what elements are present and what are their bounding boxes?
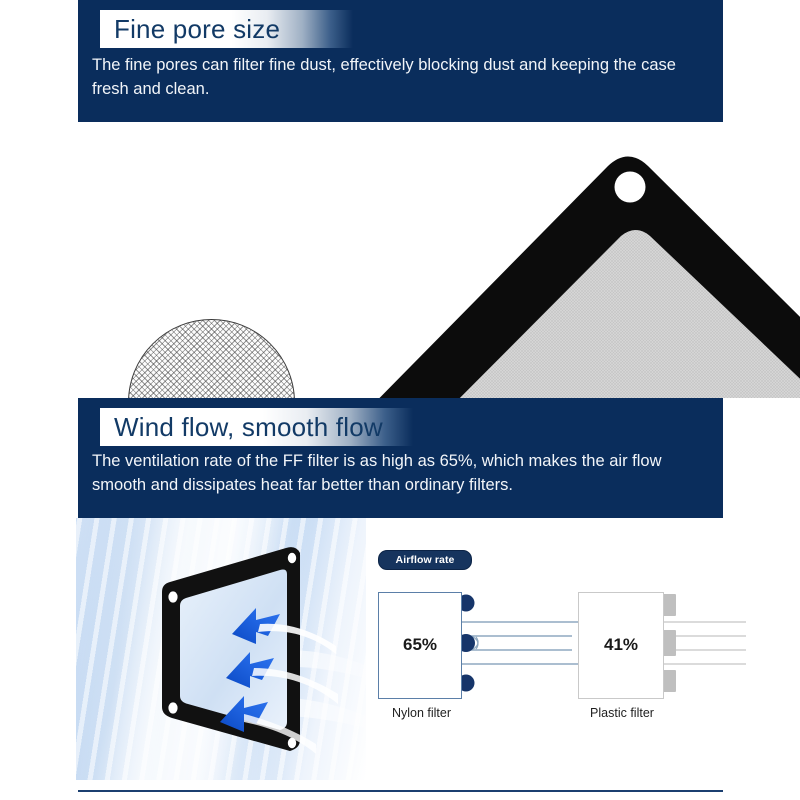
section-description: The ventilation rate of the FF filter is… <box>92 450 707 498</box>
nylon-filter-label: Nylon filter <box>374 706 469 720</box>
mesh-weave-pattern <box>129 320 294 398</box>
wind-flow-imagery: Airflow rate <box>0 518 800 800</box>
nylon-filter-box: 65% <box>378 592 462 699</box>
footer-divider <box>78 790 723 792</box>
nylon-filter-value: 65% <box>379 635 461 655</box>
filter-frame-airflow-illustration <box>140 542 370 787</box>
section-description-text: The ventilation rate of the FF filter is… <box>92 450 707 498</box>
section-title: Wind flow, smooth flow <box>100 412 383 443</box>
section-title: Fine pore size <box>100 14 280 45</box>
filter-corner-graphic <box>336 132 800 398</box>
product-infographic: Fine pore size The fine pores can filter… <box>0 0 800 800</box>
filter-frame-corner-photo <box>336 132 800 398</box>
section-banner-fine-pore-size: Fine pore size The fine pores can filter… <box>78 0 723 122</box>
airflow-rate-comparison-diagram: Airflow rate <box>366 546 746 741</box>
section-description: The fine pores can filter fine dust, eff… <box>92 54 707 102</box>
plastic-filter-box: 41% <box>578 592 664 699</box>
mesh-weave-disc <box>128 319 295 398</box>
plastic-filter-value: 41% <box>579 635 663 655</box>
section-title-plate: Fine pore size <box>100 10 353 48</box>
section-banner-wind-flow: Wind flow, smooth flow The ventilation r… <box>78 398 723 518</box>
filter-frame-graphic <box>140 542 370 787</box>
fine-pore-imagery <box>0 122 800 398</box>
section-description-text: The fine pores can filter fine dust, eff… <box>92 54 707 102</box>
section-title-plate: Wind flow, smooth flow <box>100 408 413 446</box>
plastic-filter-label: Plastic filter <box>572 706 672 720</box>
